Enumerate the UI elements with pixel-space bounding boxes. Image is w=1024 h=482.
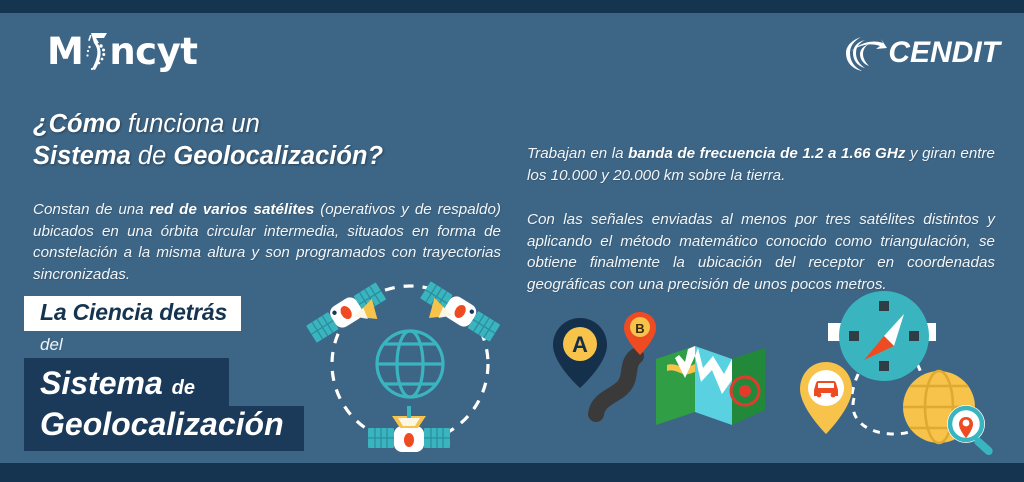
paragraph-left-pre: Constan de una [33, 201, 150, 218]
cendit-logo[interactable]: CENDIT [842, 30, 1000, 76]
satellite-constellation-illustration [303, 276, 518, 462]
route-path [596, 356, 636, 414]
paragraph-left-strong: red de varios satélites [150, 201, 315, 218]
paragraph-right-1: Trabajan en la banda de frecuencia de 1.… [527, 143, 995, 186]
paragraph-right-1-pre: Trabajan en la [527, 145, 628, 162]
tagline-block: La Ciencia detrás del Sistema de Geoloca… [24, 296, 304, 451]
satellite-icon-1 [305, 281, 393, 353]
tagline-navy-line-1: Sistema de [24, 358, 229, 406]
globe-magnifier-icon [903, 371, 994, 457]
globe-icon [377, 331, 443, 397]
infographic-canvas: M ncyt [0, 0, 1024, 482]
paragraph-left: Constan de una red de varios satélites (… [33, 199, 501, 285]
page-title-emph-2: Sistema [33, 142, 131, 170]
map-pin-a: A [553, 318, 607, 388]
page-title-rest-2: de [138, 142, 166, 170]
map-pin-b-label: B [635, 321, 644, 336]
mincyt-logo-text-after: ncyt [109, 33, 197, 70]
cendit-logo-text: CENDIT [888, 38, 1000, 68]
top-band [0, 0, 1024, 13]
page-title: ¿Cómo funciona un Sistema de Geolocaliza… [33, 108, 503, 172]
page-title-rest-1: funciona un [128, 110, 260, 138]
tagline-navy-line-2: Geolocalización [24, 406, 304, 451]
tagline-navy-1-bold: Sistema [40, 365, 163, 401]
satellite-icon-3 [368, 406, 450, 452]
tagline-del: del [40, 336, 304, 355]
paragraph-right-1-strong: banda de frecuencia de 1.2 a 1.66 GHz [628, 145, 905, 162]
cendit-swoosh-icon [842, 30, 888, 76]
bottom-band [0, 463, 1024, 482]
route-map-illustration: A B [552, 312, 767, 432]
car-pin-icon [800, 362, 852, 434]
tagline-white-banner: La Ciencia detrás [24, 296, 241, 331]
paragraph-right-2: Con las señales enviadas al menos por tr… [527, 209, 995, 295]
mincyt-monogram-icon [83, 31, 109, 71]
mincyt-logo[interactable]: M ncyt [47, 30, 197, 72]
satellite-icon-2 [414, 280, 502, 352]
page-title-line-1: ¿Cómo funciona un [33, 108, 503, 140]
map-pin-b: B [624, 312, 656, 355]
page-title-emph-3: Geolocalización? [173, 142, 383, 170]
map-pin-a-label: A [572, 332, 588, 357]
tagline-navy-1-small: de [172, 377, 195, 399]
page-title-emph-1: ¿Cómo [33, 110, 121, 138]
compass-navigation-illustration [806, 302, 1016, 452]
folded-map-icon [656, 346, 765, 425]
page-title-line-2: Sistema de Geolocalización? [33, 140, 503, 172]
mincyt-logo-text-before: M [47, 33, 83, 70]
